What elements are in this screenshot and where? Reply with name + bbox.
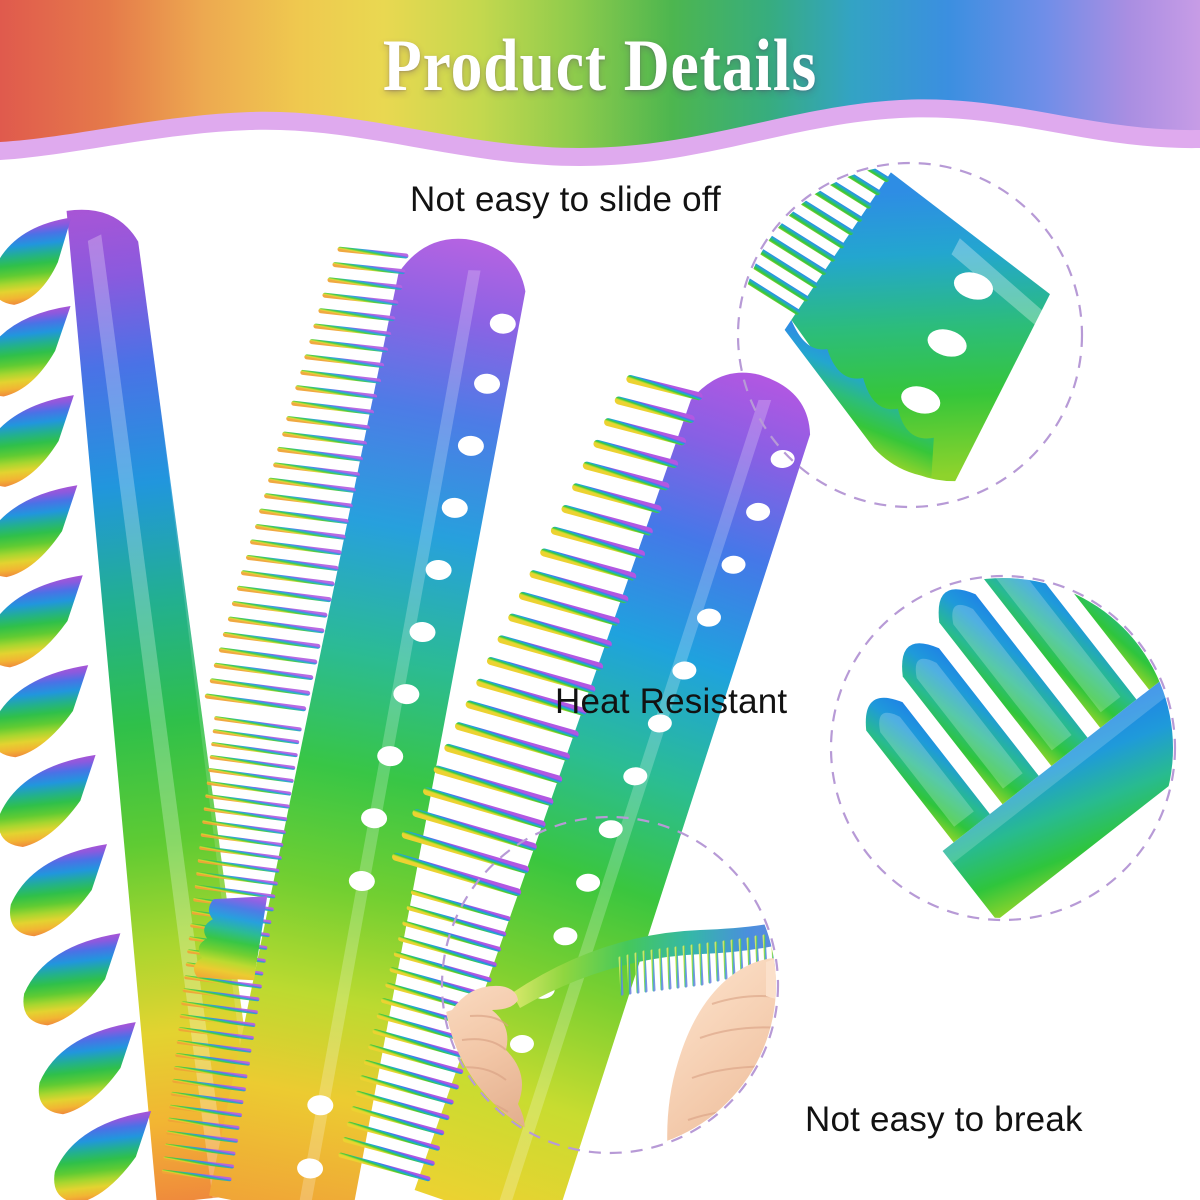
product-details-page: Product Details Not easy to slide off He… [0,0,1200,1200]
header-banner: Product Details [0,0,1200,180]
caption-heat-resistant: Heat Resistant [555,682,787,722]
caption-not-easy-to-slide-off: Not easy to slide off [410,180,721,220]
caption-not-easy-to-break: Not easy to break [805,1100,1083,1140]
right-hand [667,958,853,1200]
